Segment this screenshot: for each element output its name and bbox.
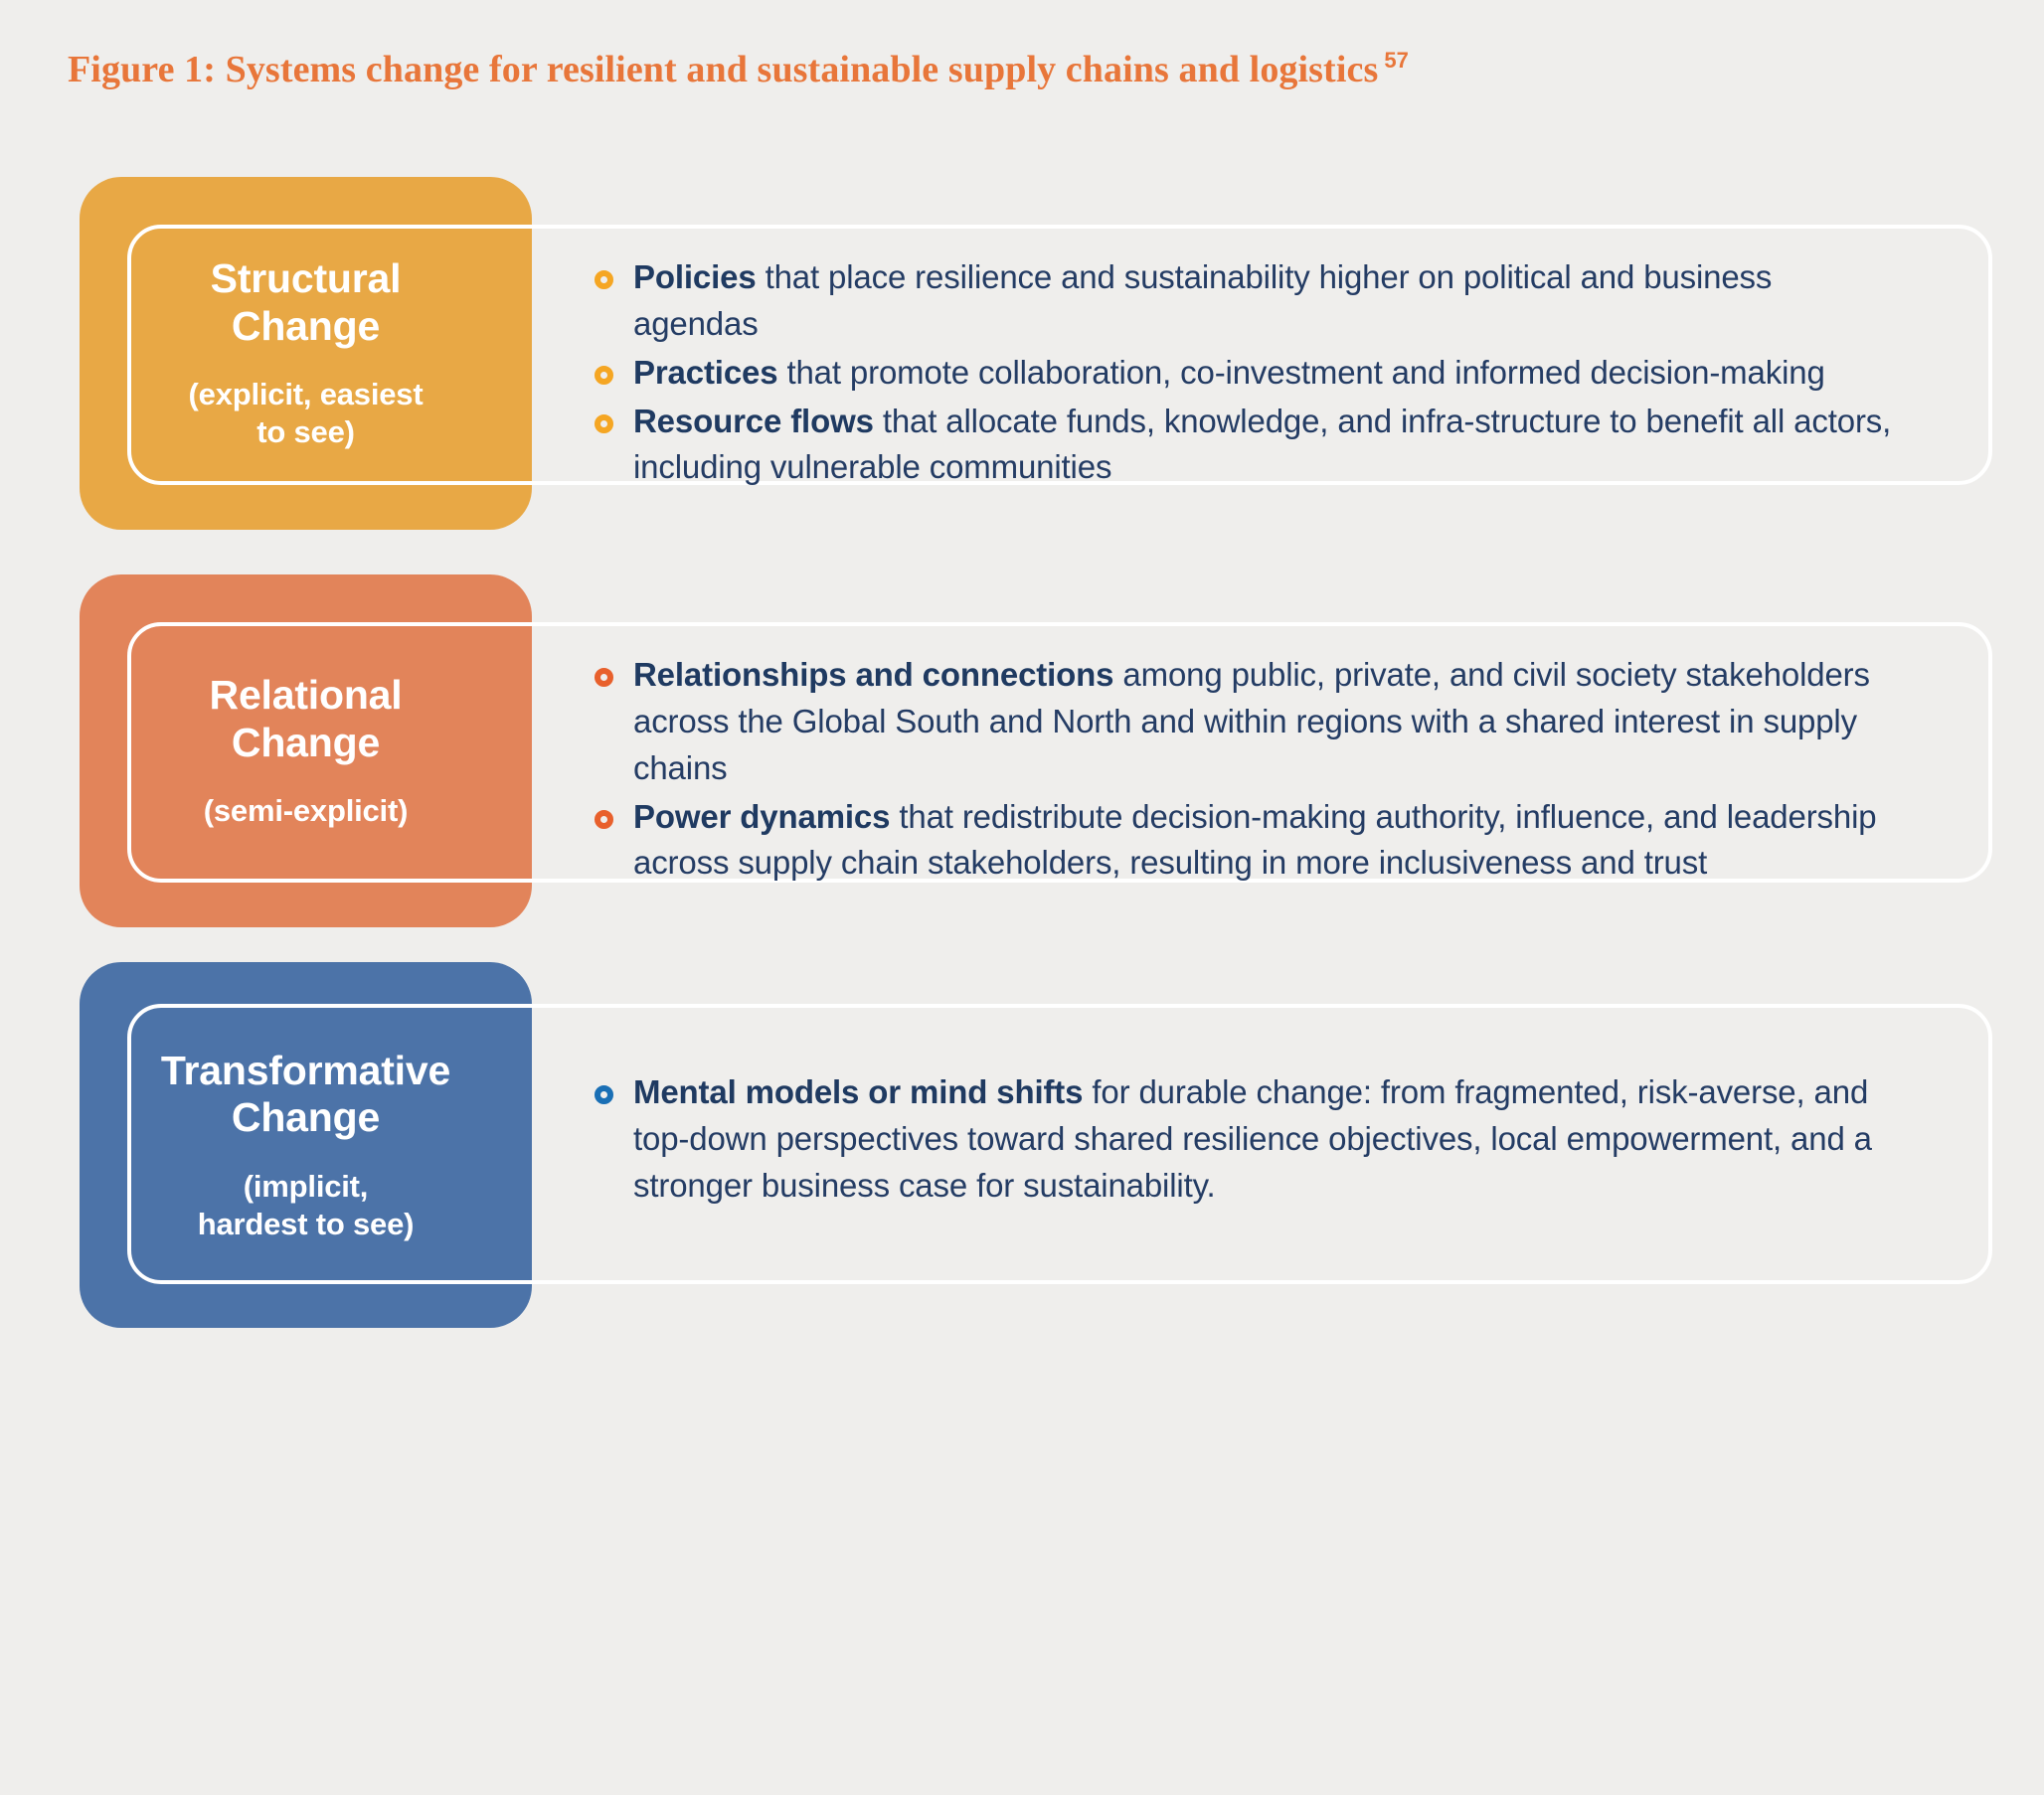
structural-bullet-list: Policies that place resilience and susta… [595,254,1905,493]
transformative-label: Transformative Change (implicit, hardest… [80,962,532,1328]
section-transformative-change: Transformative Change (implicit, hardest… [0,962,2044,1328]
bullet-lead: Resource flows [633,403,874,439]
bullet-lead: Practices [633,354,777,391]
structural-label: Structural Change (explicit, easiest to … [80,177,532,530]
bullet-rest: that place resilience and sustainability… [633,258,1772,342]
section-relational-change: Relational Change (semi-explicit) Relati… [0,574,2044,927]
relational-subtitle-line-1: (semi-explicit) [204,792,408,830]
section-structural-change: Structural Change (explicit, easiest to … [0,177,2044,530]
page-title: Figure 1: Systems change for resilient a… [68,48,1409,91]
list-item: Relationships and connections among publ… [595,652,1905,792]
list-item: Policies that place resilience and susta… [595,254,1905,348]
transformative-bullet-list: Mental models or mind shifts for durable… [595,1069,1905,1212]
list-item: Mental models or mind shifts for durable… [595,1069,1905,1210]
structural-title-line-1: Structural [211,255,402,303]
bullet-text: Resource flows that allocate funds, know… [633,399,1905,492]
structural-subtitle-line-1: (explicit, easiest [189,376,424,413]
bullet-lead: Power dynamics [633,798,890,835]
bullet-ring-icon [595,366,613,385]
relational-bullet-list: Relationships and connections among publ… [595,652,1905,889]
bullet-lead: Mental models or mind shifts [633,1073,1083,1110]
figure-title-text: Figure 1: Systems change for resilient a… [68,49,1378,90]
relational-label: Relational Change (semi-explicit) [80,574,532,927]
relational-title-line-1: Relational [210,672,403,720]
structural-title: Structural Change [211,255,402,350]
transformative-subtitle-line-1: (implicit, [198,1168,415,1206]
transformative-title-line-1: Transformative [161,1048,450,1095]
bullet-rest: that promote collaboration, co-investmen… [777,354,1824,391]
bullet-text: Practices that promote collaboration, co… [633,350,1905,397]
structural-subtitle-line-2: to see) [189,413,424,451]
bullet-ring-icon [595,668,613,687]
bullet-text: Relationships and connections among publ… [633,652,1905,792]
list-item: Practices that promote collaboration, co… [595,350,1905,397]
bullet-lead: Relationships and connections [633,656,1113,693]
structural-subtitle: (explicit, easiest to see) [189,376,424,451]
bullet-ring-icon [595,1085,613,1104]
bullet-ring-icon [595,810,613,829]
bullet-text: Policies that place resilience and susta… [633,254,1905,348]
bullet-ring-icon [595,270,613,289]
transformative-subtitle: (implicit, hardest to see) [198,1168,415,1243]
transformative-title: Transformative Change [161,1048,450,1142]
relational-title-line-2: Change [210,720,403,767]
bullet-lead: Policies [633,258,757,295]
list-item: Power dynamics that redistribute decisio… [595,794,1905,888]
footnote-marker: 57 [1384,48,1409,73]
bullet-text: Mental models or mind shifts for durable… [633,1069,1905,1210]
bullet-ring-icon [595,414,613,433]
relational-subtitle: (semi-explicit) [204,792,408,830]
transformative-title-line-2: Change [161,1094,450,1142]
relational-title: Relational Change [210,672,403,766]
bullet-text: Power dynamics that redistribute decisio… [633,794,1905,888]
transformative-subtitle-line-2: hardest to see) [198,1206,415,1243]
list-item: Resource flows that allocate funds, know… [595,399,1905,492]
structural-title-line-2: Change [211,303,402,351]
